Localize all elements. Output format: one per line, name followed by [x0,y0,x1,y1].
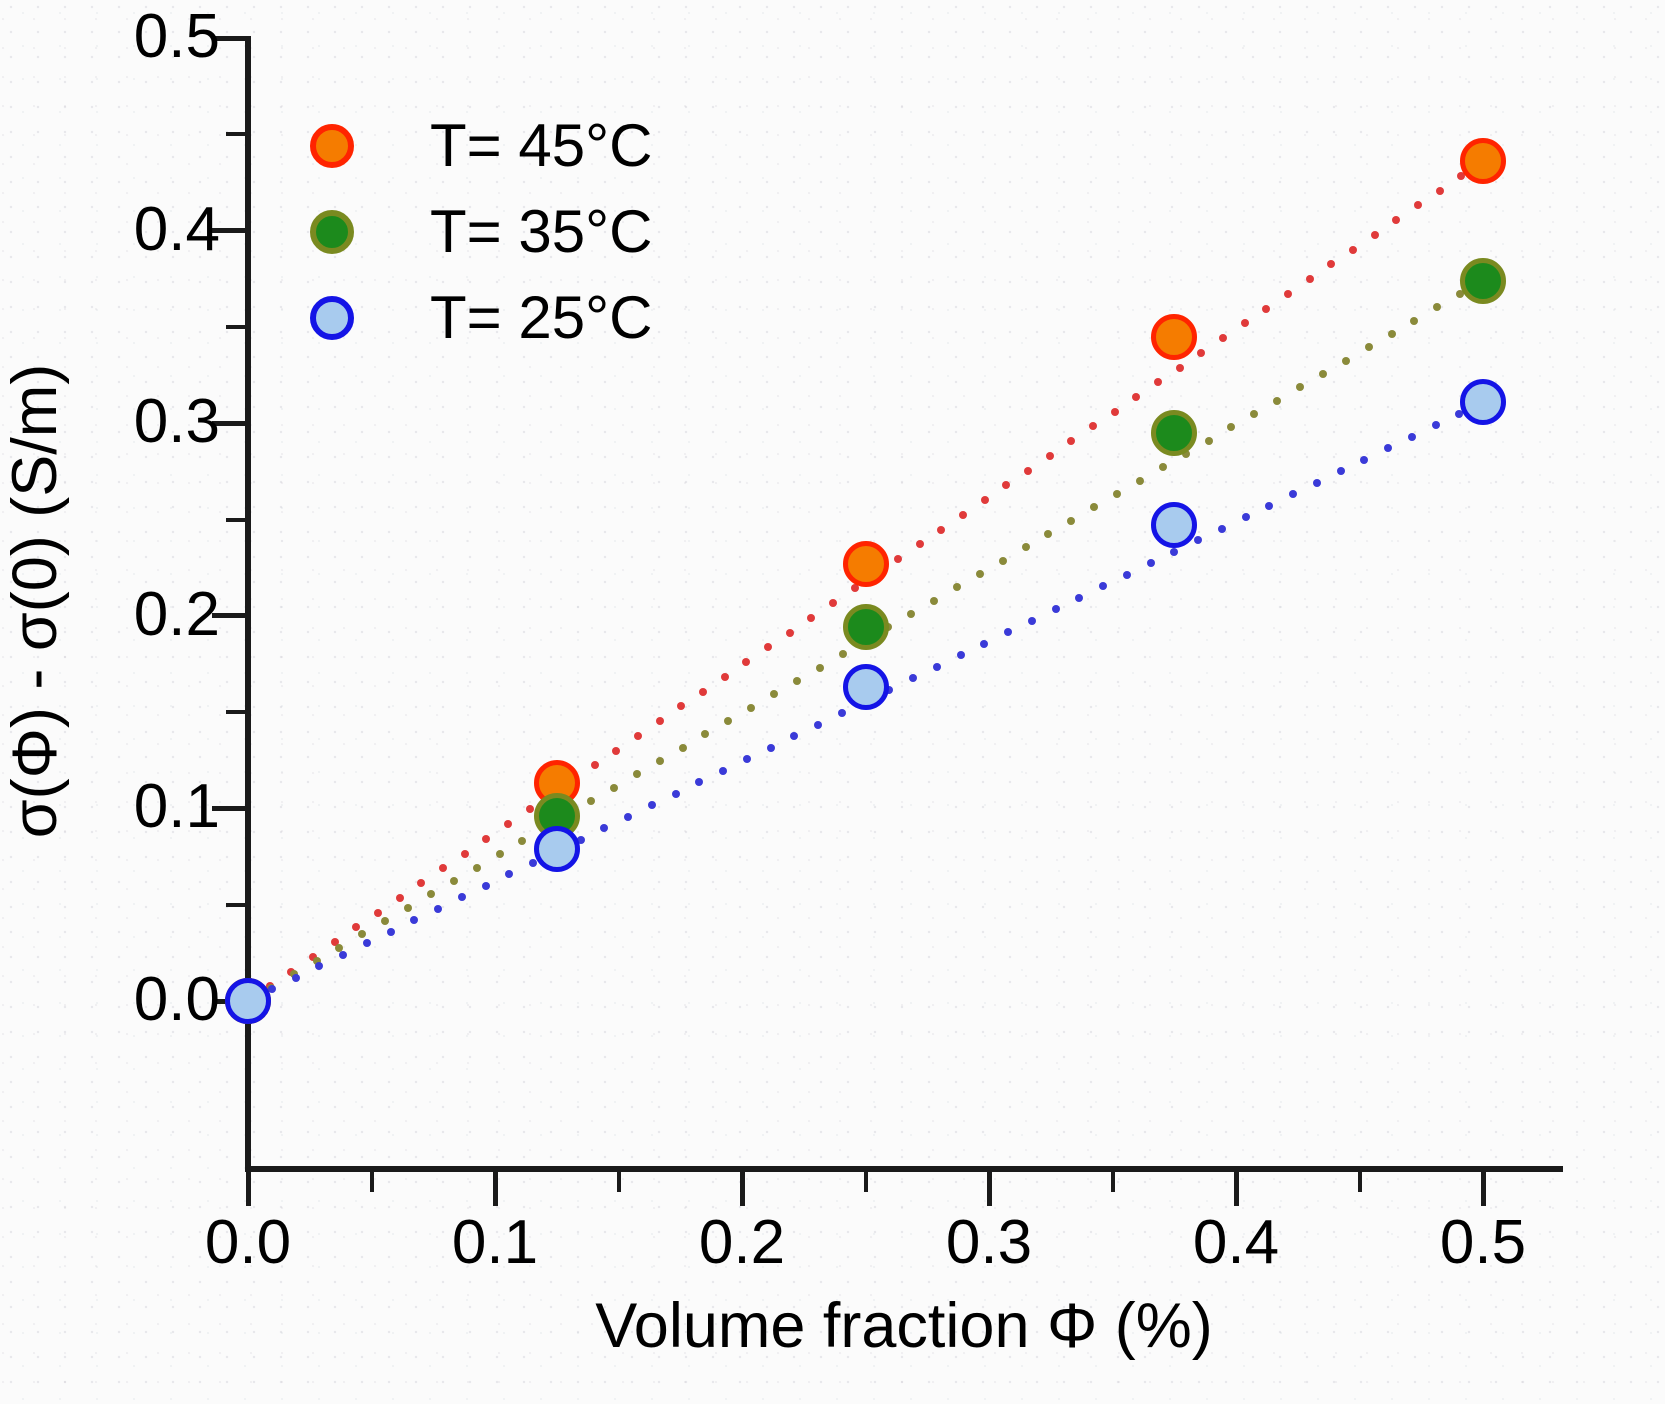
trend-line-dot [656,757,664,765]
x-tick-label: 0.0 [205,1212,291,1274]
trend-line-dot [473,864,481,872]
trend-line-dot [767,744,775,752]
legend-marker-icon [310,210,354,254]
x-tick-major [1481,1170,1486,1206]
trend-line-dot [1273,397,1281,405]
legend-item[interactable]: T= 35°C [310,198,652,266]
trend-line-dot [701,730,709,738]
trend-line-dot [1360,456,1368,464]
y-tick-label: 0.4 [134,199,220,261]
trend-line-dot [648,801,656,809]
y-tick-label: 0.3 [134,391,220,453]
trend-line-dot [404,904,412,912]
trend-line-dot [916,540,924,548]
trend-line-dot [633,770,641,778]
y-tick-minor [226,518,246,522]
trend-line-dot [610,784,618,792]
legend-marker-icon [310,124,354,168]
trend-line-dot [930,597,938,605]
trend-line-dot [396,894,404,902]
y-axis-title: σ(Φ) - σ(0) (S/m) [0,151,71,1051]
trend-line-dot [374,909,382,917]
trend-line-dot [1024,467,1032,475]
data-point-marker [1151,314,1197,360]
trend-line-dot [838,709,846,717]
trend-line-dot [724,717,732,725]
trend-line-dot [807,614,815,622]
trend-line-dot [1090,503,1098,511]
trend-line-dot [656,717,664,725]
trend-line-dot [1432,421,1440,429]
trend-line-dot [1392,216,1400,224]
trend-line-dot [814,721,822,729]
trend-line-dot [1349,246,1357,254]
trend-line-dot [427,890,435,898]
trend-line-dot [743,755,751,763]
y-tick-minor [226,325,246,329]
chart-figure: 0.00.10.20.30.40.5 0.00.10.20.30.40.5 σ(… [0,0,1665,1404]
trend-line-dot [450,877,458,885]
y-tick-label: 0.1 [134,776,220,838]
trend-line-dot [526,805,534,813]
trend-line-dot [1075,594,1083,602]
trend-line-dot [786,629,794,637]
trend-line-dot [1028,617,1036,625]
trend-line-dot [793,677,801,685]
trend-line-dot [1159,463,1167,471]
trend-line-dot [417,879,425,887]
trend-line-dot [434,905,442,913]
trend-line-dot [482,882,490,890]
x-tick-minor [370,1170,374,1192]
data-point-marker [1460,258,1506,304]
y-tick-label: 0.0 [134,969,220,1031]
trend-line-dot [1433,303,1441,311]
trend-line-dot [829,599,837,607]
trend-line-dot [1227,423,1235,431]
trend-line-dot [410,916,418,924]
trend-line-dot [1313,479,1321,487]
trend-line-dot [461,850,469,858]
trend-line-dot [679,744,687,752]
trend-line-dot [1384,444,1392,452]
trend-line-dot [933,663,941,671]
trend-line-dot [672,790,680,798]
trend-line-dot [981,496,989,504]
trend-line-dot [1241,319,1249,327]
x-tick-minor [617,1170,621,1192]
legend-item-label: T= 35°C [430,202,652,262]
legend-item-label: T= 45°C [430,116,652,176]
data-point-marker [1151,410,1197,456]
x-tick-label: 0.2 [699,1212,785,1274]
trend-line-dot [1327,260,1335,268]
trend-line-dot [591,761,599,769]
trend-line-dot [1123,571,1131,579]
y-tick-label: 0.2 [134,584,220,646]
trend-line-dot [1408,433,1416,441]
data-point-marker [843,664,889,710]
trend-line-dot [937,526,945,534]
trend-line-dot [358,930,366,938]
trend-line-dot [1044,530,1052,538]
trend-line-dot [505,870,513,878]
trend-line-dot [1004,628,1012,636]
trend-line-dot [1067,517,1075,525]
trend-line-dot [518,837,526,845]
trend-line-dot [695,778,703,786]
trend-line-dot [458,893,466,901]
trend-line-dot [1410,317,1418,325]
trend-line-dot [976,570,984,578]
trend-line-dot [624,813,632,821]
legend-item[interactable]: T= 25°C [310,284,652,352]
trend-line-dot [980,640,988,648]
trend-line-dot [1289,490,1297,498]
trend-line-dot [315,962,323,970]
trend-line-dot [1099,582,1107,590]
trend-line-dot [1154,378,1162,386]
trend-line-dot [957,651,965,659]
trend-line-dot [1436,187,1444,195]
trend-line-dot [439,864,447,872]
trend-line-dot [1218,525,1226,533]
data-point-marker [534,826,580,872]
legend-item-label: T= 25°C [430,288,652,348]
trend-line-dot [1205,437,1213,445]
trend-line-dot [1262,305,1270,313]
trend-line-dot [699,688,707,696]
trend-line-dot [381,917,389,925]
trend-line-dot [1296,383,1304,391]
x-axis-title: Volume fraction Φ (%) [245,1290,1563,1362]
trend-line-dot [816,664,824,672]
trend-line-dot [839,650,847,658]
y-tick-minor [226,710,246,714]
trend-line-dot [1319,370,1327,378]
trend-line-dot [1089,422,1097,430]
trend-line-dot [894,555,902,563]
trend-line-dot [1365,343,1373,351]
trend-line-dot [363,939,371,947]
legend-item[interactable]: T= 45°C [310,112,652,180]
trend-line-dot [482,835,490,843]
trend-line-dot [907,610,915,618]
trend-line-dot [999,557,1007,565]
trend-line-dot [1219,334,1227,342]
x-tick-major [740,1170,745,1206]
trend-line-dot [587,797,595,805]
x-tick-minor [1111,1170,1115,1192]
trend-line-dot [1194,536,1202,544]
trend-line-dot [1176,364,1184,372]
trend-line-dot [1052,605,1060,613]
trend-line-dot [1250,410,1258,418]
x-tick-major [1234,1170,1239,1206]
data-point-marker [843,541,889,587]
trend-line-dot [504,820,512,828]
trend-line-dot [1242,513,1250,521]
trend-line-dot [1414,201,1422,209]
trend-line-dot [1342,357,1350,365]
trend-line-dot [1197,349,1205,357]
trend-line-dot [1371,231,1379,239]
trend-line-dot [1113,490,1121,498]
trend-line-dot [1265,502,1273,510]
trend-line-dot [1147,559,1155,567]
trend-line-dot [1306,275,1314,283]
trend-line-dot [1046,452,1054,460]
trend-line-dot [496,850,504,858]
trend-line-dot [339,951,347,959]
x-tick-major [246,1170,251,1206]
legend-marker-icon [310,296,354,340]
trend-line-dot [1022,543,1030,551]
trend-line-dot [292,974,300,982]
trend-line-dot [1170,548,1178,556]
x-tick-label: 0.5 [1440,1212,1526,1274]
trend-line-dot [1388,330,1396,338]
x-tick-label: 0.4 [1193,1212,1279,1274]
trend-line-dot [1002,481,1010,489]
x-tick-label: 0.3 [946,1212,1032,1274]
trend-line-dot [959,511,967,519]
data-point-marker [843,604,889,650]
data-point-marker [225,978,271,1024]
trend-line-dot [1111,408,1119,416]
y-tick-minor [226,903,246,907]
x-axis-line [245,1166,1563,1172]
trend-line-dot [387,928,395,936]
x-tick-minor [1358,1170,1362,1192]
trend-line-dot [719,767,727,775]
trend-line-dot [953,583,961,591]
trend-line-dot [1067,437,1075,445]
x-tick-major [493,1170,498,1206]
trend-line-dot [909,674,917,682]
trend-line-dot [634,732,642,740]
trend-line-dot [747,704,755,712]
data-point-marker [1460,138,1506,184]
trend-line-dot [721,673,729,681]
x-tick-major [987,1170,992,1206]
trend-line-dot [764,643,772,651]
chart-legend: T= 45°CT= 35°CT= 25°C [310,112,652,352]
trend-line-dot [790,732,798,740]
trend-line-dot [742,658,750,666]
trend-line-dot [1136,477,1144,485]
trend-line-dot [1132,393,1140,401]
x-tick-label: 0.1 [452,1212,538,1274]
trend-line-dot [612,747,620,755]
data-point-marker [1460,379,1506,425]
x-tick-minor [864,1170,868,1192]
trend-line-dot [677,702,685,710]
data-point-marker [1151,502,1197,548]
trend-line-dot [770,690,778,698]
y-tick-minor [226,132,246,136]
trend-line-dot [1284,290,1292,298]
trend-line-dot [1337,467,1345,475]
y-tick-label: 0.5 [134,6,220,68]
trend-line-dot [600,824,608,832]
